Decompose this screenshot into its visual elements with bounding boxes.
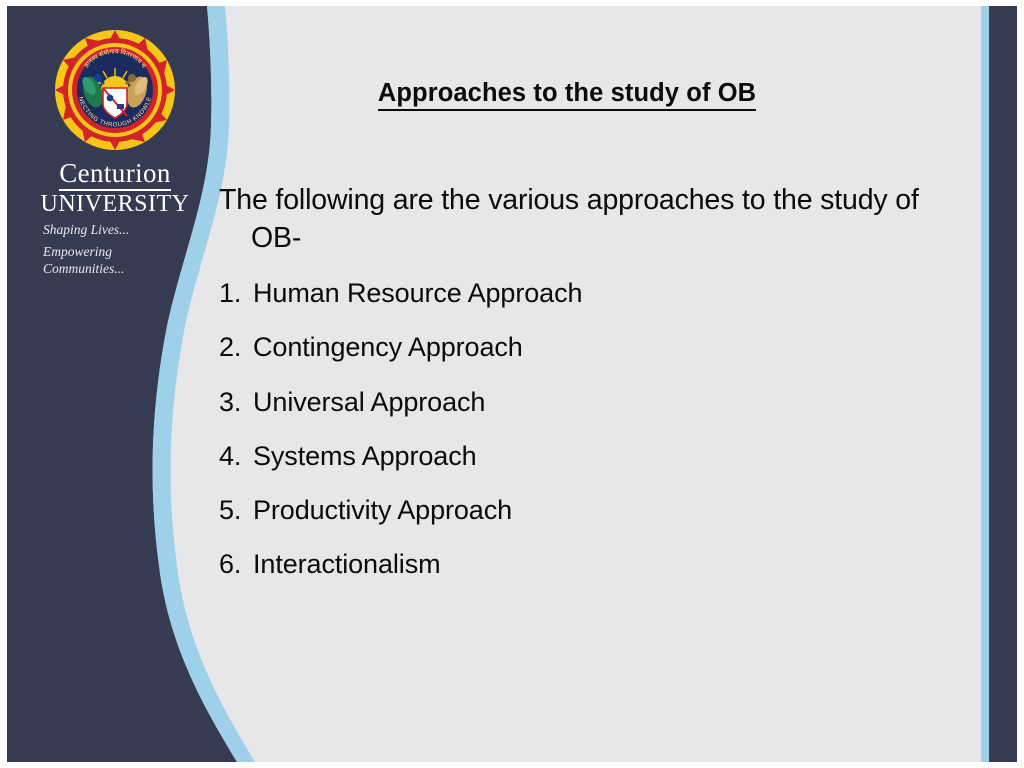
slide-title-text: Approaches to the study of OB: [378, 79, 756, 111]
list-item-number: 2.: [219, 333, 253, 362]
right-accent-stripe: [981, 6, 989, 762]
list-item: 5.Productivity Approach: [219, 496, 975, 525]
list-item-number: 5.: [219, 496, 253, 525]
brand-tagline-line1: Shaping Lives...: [43, 221, 195, 238]
list-item-number: 6.: [219, 550, 253, 579]
list-item-number: 4.: [219, 442, 253, 471]
right-navy-bar: [989, 6, 1017, 762]
brand-name-sub: UNIVERSITY: [35, 192, 195, 218]
list-item-label: Universal Approach: [253, 387, 485, 417]
slide-body: The following are the various approaches…: [219, 182, 975, 604]
list-item: 2.Contingency Approach: [219, 333, 975, 362]
list-item: 4.Systems Approach: [219, 442, 975, 471]
list-item-label: Interactionalism: [253, 549, 440, 579]
brand-tagline-line2: Empowering Communities...: [43, 243, 195, 278]
list-item: 3.Universal Approach: [219, 388, 975, 417]
slide-title: Approaches to the study of OB: [187, 79, 947, 108]
list-item-label: Productivity Approach: [253, 495, 512, 525]
list-item: 1.Human Resource Approach: [219, 279, 975, 308]
university-crest-icon: ज्ञानस्य संयोगाय वितरणाय च: [53, 28, 177, 152]
list-item-number: 3.: [219, 388, 253, 417]
brand-name-main: Centurion: [59, 160, 171, 191]
list-item-number: 1.: [219, 279, 253, 308]
list-item-label: Human Resource Approach: [253, 278, 582, 308]
list-item: 6.Interactionalism: [219, 550, 975, 579]
list-item-label: Systems Approach: [253, 441, 477, 471]
university-branding: ज्ञानस्य संयोगाय वितरणाय च: [35, 28, 195, 277]
list-item-label: Contingency Approach: [253, 332, 523, 362]
slide: ज्ञानस्य संयोगाय वितरणाय च: [0, 0, 1024, 768]
intro-paragraph: The following are the various approaches…: [219, 182, 975, 257]
slide-canvas: ज्ञानस्य संयोगाय वितरणाय च: [7, 6, 1017, 762]
approach-list: 1.Human Resource Approach 2.Contingency …: [219, 279, 975, 579]
